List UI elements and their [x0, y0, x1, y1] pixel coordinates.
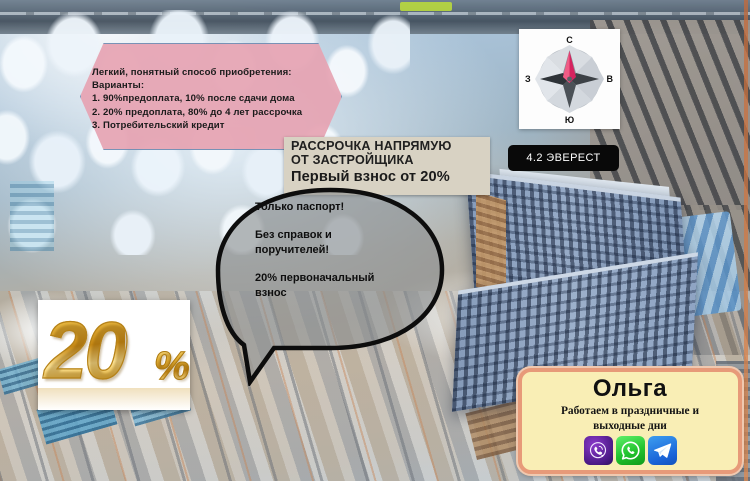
- bubble-line: Без справок и: [255, 229, 332, 241]
- purchase-options-line: 2. 20% предоплата, 80% до 4 лет рассрочк…: [92, 106, 337, 119]
- frame-accent-line: [744, 0, 748, 481]
- project-badge: 4.2 ЭВЕРЕСТ: [508, 145, 619, 171]
- compass-rose: С Ю З В: [519, 29, 620, 129]
- gold-percent-sign: %: [154, 344, 190, 389]
- working-hours-line-2: выходные дни: [593, 420, 667, 432]
- compass-label-north: С: [566, 35, 573, 45]
- whatsapp-glyph: [620, 440, 641, 461]
- compass-label-west: З: [525, 74, 531, 84]
- bubble-line: 20% первоначальный: [255, 272, 374, 284]
- project-badge-label: 4.2 ЭВЕРЕСТ: [526, 152, 600, 164]
- working-hours-line-1: Работаем в праздничные и: [561, 405, 699, 417]
- purchase-options-line: Легкий, понятный способ приобретения:: [92, 66, 337, 79]
- purchase-options-line: 1. 90%предоплата, 10% после сдачи дома: [92, 92, 337, 105]
- speech-bubble-text: Только паспорт! Без справок и поручителе…: [255, 200, 430, 301]
- viber-icon[interactable]: [584, 436, 613, 465]
- bubble-line: взнос: [255, 287, 287, 299]
- working-hours-note: Работаем в праздничные и выходные дни: [522, 404, 738, 433]
- viber-glyph: [588, 441, 608, 461]
- bubble-line-group: 20% первоначальный взнос: [255, 271, 430, 301]
- compass-label-east: В: [607, 74, 614, 84]
- bubble-line: поручителей!: [255, 244, 329, 256]
- headline-line-2: ОТ ЗАСТРОЙЩИКА: [291, 153, 490, 167]
- building-teal: [10, 181, 54, 251]
- bubble-line: Только паспорт!: [255, 201, 344, 213]
- advertisement-banner: Легкий, понятный способ приобретения: Ва…: [0, 0, 750, 481]
- purchase-options-line: Варианты:: [92, 79, 337, 92]
- headline-line-1: РАССРОЧКА НАПРЯМУЮ: [291, 139, 490, 153]
- bubble-line-group: Только паспорт!: [255, 200, 430, 215]
- headline-subline: Первый взнос от 20%: [291, 168, 490, 187]
- compass-label-south: Ю: [565, 115, 574, 125]
- gold-reflection: [38, 388, 190, 410]
- whatsapp-icon[interactable]: [616, 436, 645, 465]
- purchase-options-line: 3. Потребительский кредит: [92, 119, 337, 132]
- messenger-icon-row: [522, 436, 738, 465]
- telegram-glyph: [652, 440, 673, 461]
- gold-discount-graphic: 20 %: [38, 300, 190, 410]
- telegram-icon[interactable]: [648, 436, 677, 465]
- purchase-options-text: Легкий, понятный способ приобретения: Ва…: [92, 66, 337, 132]
- contact-card: Ольга Работаем в праздничные и выходные …: [518, 368, 742, 474]
- balcony-strip: [476, 192, 506, 296]
- contact-name: Ольга: [522, 375, 738, 403]
- bubble-line-group: Без справок и поручителей!: [255, 228, 430, 258]
